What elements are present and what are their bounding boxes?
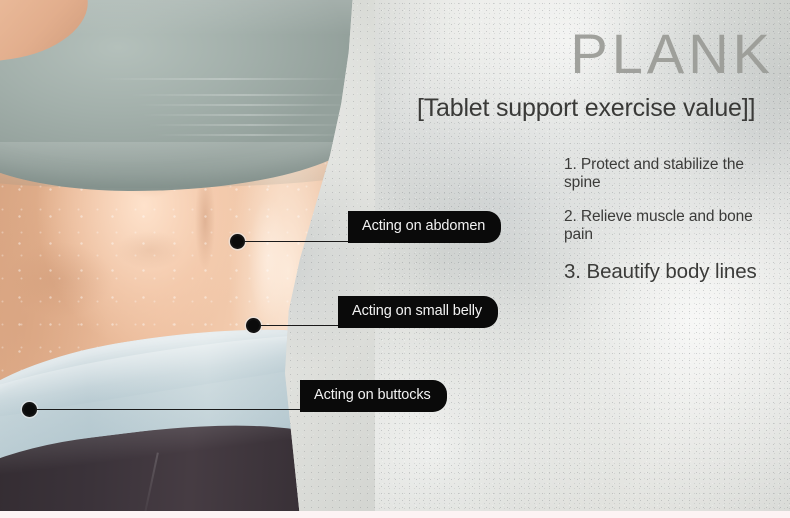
leader-line: [37, 409, 301, 410]
marker-dot-icon: [230, 234, 245, 249]
leader-line: [261, 325, 339, 326]
benefit-item-3: 3. Beautify body lines: [564, 260, 784, 284]
bottom-strip: [0, 511, 790, 518]
benefit-list: 1. Protect and stabilize the spine 2. Re…: [564, 156, 784, 284]
model-photo: [0, 0, 375, 518]
plank-poster: PLANK [Tablet support exercise value]] 1…: [0, 0, 790, 518]
marker-dot-icon: [22, 402, 37, 417]
callout-label-buttocks: Acting on buttocks: [300, 380, 447, 412]
benefit-item-2: 2. Relieve muscle and bone pain: [564, 208, 784, 243]
callout-label-small-belly: Acting on small belly: [338, 296, 498, 328]
marker-dot-icon: [246, 318, 261, 333]
benefit-item-1: 1. Protect and stabilize the spine: [564, 156, 784, 191]
leader-line: [245, 241, 350, 242]
subtitle: [Tablet support exercise value]]: [417, 94, 755, 123]
sports-bra-band: [0, 142, 370, 188]
page-title: PLANK: [570, 26, 774, 82]
callout-label-abdomen: Acting on abdomen: [348, 211, 501, 243]
